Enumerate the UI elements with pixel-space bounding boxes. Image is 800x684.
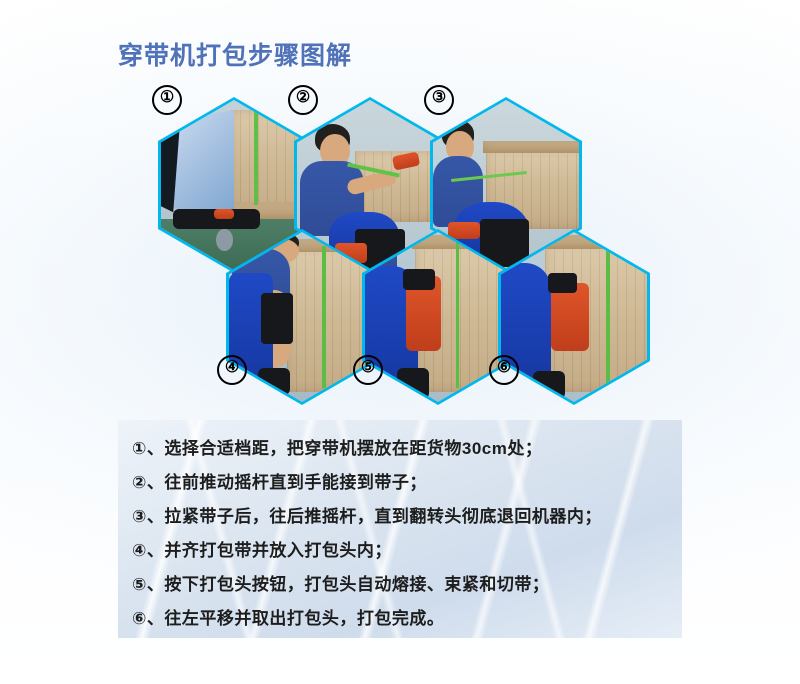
hexagon-photo-gallery: ① ② <box>0 0 800 410</box>
step-line-6: ⑥、往左平移并取出打包头，打包完成。 <box>132 602 682 636</box>
hex-number-3: ③ <box>424 85 454 115</box>
hex-number-6: ⑥ <box>489 355 519 385</box>
step-line-5: ⑤、按下打包头按钮，打包头自动熔接、束紧和切带； <box>132 568 682 602</box>
hex-photo-6 <box>501 232 647 402</box>
photo-step-5-illustration <box>365 232 511 402</box>
step-line-4: ④、并齐打包带并放入打包头内； <box>132 534 682 568</box>
hex-number-2: ② <box>288 85 318 115</box>
step-line-1: ①、选择合适档距，把穿带机摆放在距货物30cm处； <box>132 432 682 466</box>
photo-step-4-illustration <box>229 232 375 402</box>
hex-photo-4 <box>229 232 375 402</box>
hex-number-1: ① <box>152 85 182 115</box>
step-line-2: ②、往前推动摇杆直到手能接到带子； <box>132 466 682 500</box>
hex-cell-6[interactable]: ⑥ <box>498 229 650 405</box>
photo-step-6-illustration <box>501 232 647 402</box>
step-line-3: ③、拉紧带子后，往后推摇杆，直到翻转头彻底退回机器内； <box>132 500 682 534</box>
hex-number-4: ④ <box>217 355 247 385</box>
hex-number-5: ⑤ <box>353 355 383 385</box>
hex-photo-5 <box>365 232 511 402</box>
instruction-steps-panel: ①、选择合适档距，把穿带机摆放在距货物30cm处； ②、往前推动摇杆直到手能接到… <box>118 420 682 638</box>
